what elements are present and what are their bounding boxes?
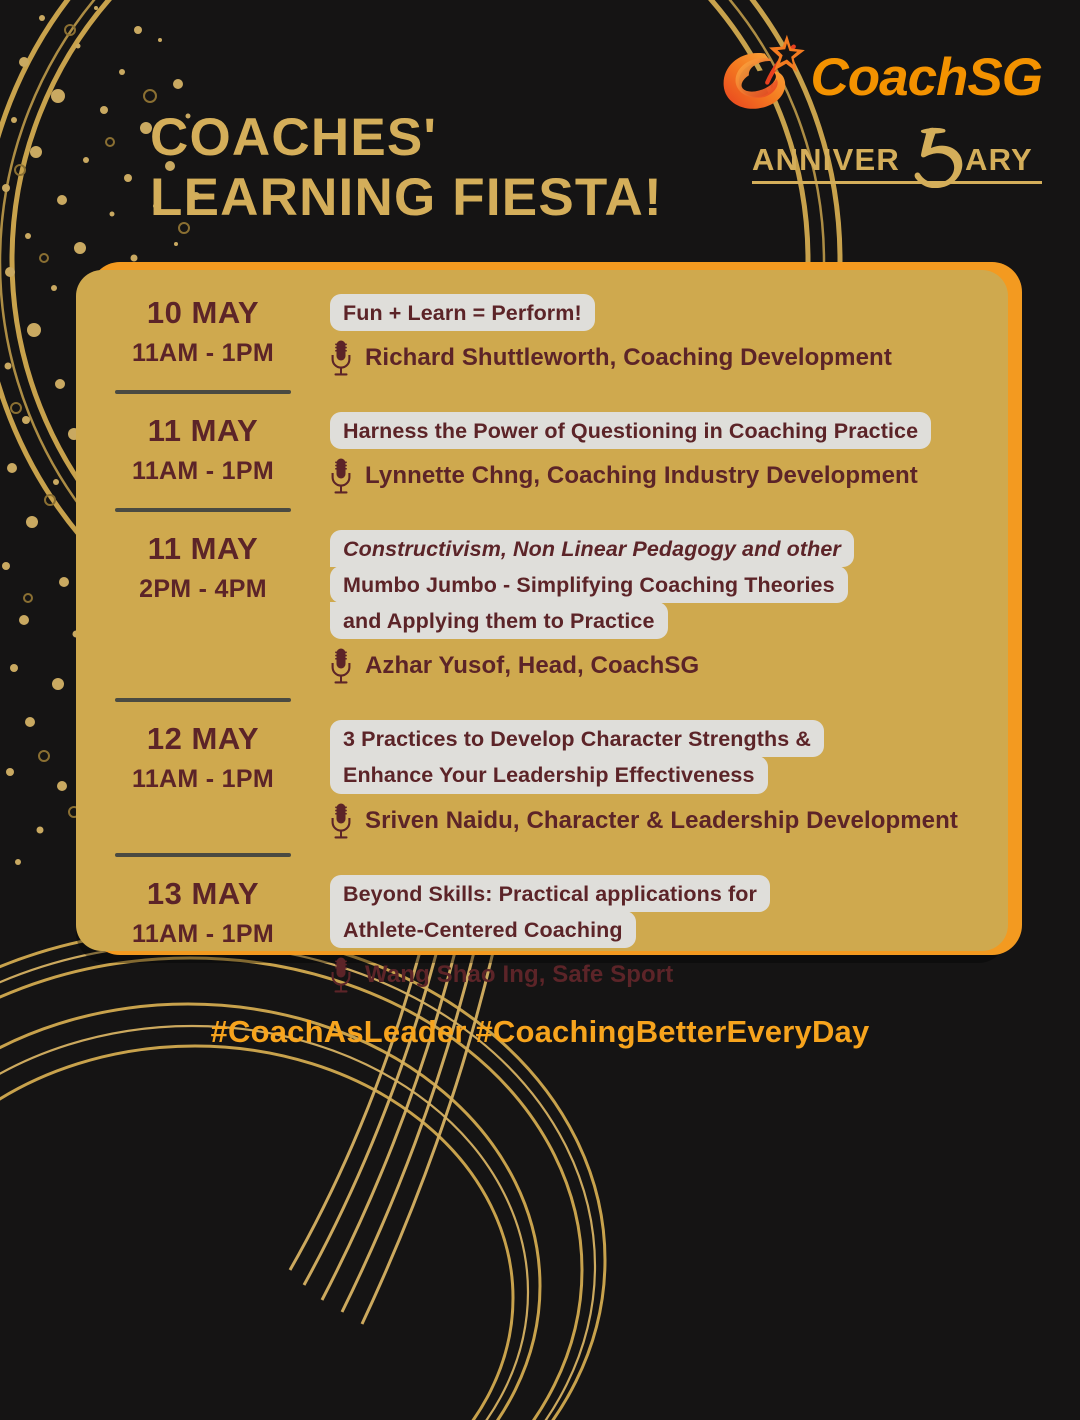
session-speaker: Wang Shao Ing, Safe Sport: [330, 957, 982, 993]
microphone-icon: [330, 340, 352, 376]
session-title-line: Enhance Your Leadership Effectiveness: [330, 756, 768, 793]
session-datetime: 11 MAY2PM - 4PM: [98, 526, 308, 604]
session-title-line: Mumbo Jumbo - Simplifying Coaching Theor…: [330, 566, 848, 603]
session-date: 11 MAY: [98, 532, 308, 566]
session-speaker: Azhar Yusof, Head, CoachSG: [330, 648, 982, 684]
anniversary-prefix: ANNIVER: [752, 142, 900, 177]
session-separator: [98, 390, 308, 394]
session-speaker-name: Sriven Naidu, Character & Leadership Dev…: [365, 807, 958, 835]
session-time: 11AM - 1PM: [98, 765, 308, 794]
session-datetime: 10 MAY11AM - 1PM: [98, 290, 308, 368]
session-separator: [98, 698, 308, 702]
anniversary-five-brush: [915, 128, 963, 188]
hashtags: #CoachAsLeader #CoachingBetterEveryDay: [0, 1014, 1080, 1050]
session-time: 11AM - 1PM: [98, 457, 308, 486]
separator-line: [115, 853, 291, 857]
anniversary-suffix: ARY: [965, 142, 1033, 177]
session-title-line: Fun + Learn = Perform!: [330, 294, 595, 331]
session-title-line: Constructivism, Non Linear Pedagogy and …: [330, 530, 854, 567]
session-speaker: Richard Shuttleworth, Coaching Developme…: [330, 340, 982, 376]
session-title: Beyond Skills: Practical applications fo…: [330, 875, 982, 947]
session-title: Constructivism, Non Linear Pedagogy and …: [330, 530, 982, 638]
session-row: 12 MAY11AM - 1PM3 Practices to Develop C…: [98, 716, 982, 838]
session-separator: [98, 508, 308, 512]
coachsg-swirl-star-icon: [720, 33, 806, 115]
session-row: 13 MAY11AM - 1PMBeyond Skills: Practical…: [98, 871, 982, 993]
session-title: 3 Practices to Develop Character Strengt…: [330, 720, 982, 792]
session-details: 3 Practices to Develop Character Strengt…: [308, 716, 982, 838]
microphone-icon: [330, 957, 352, 993]
separator-line: [115, 508, 291, 512]
session-row: 11 MAY2PM - 4PMConstructivism, Non Linea…: [98, 526, 982, 684]
session-title: Fun + Learn = Perform!: [330, 294, 982, 330]
session-separator: [98, 853, 308, 857]
schedule-card: 10 MAY11AM - 1PMFun + Learn = Perform!Ri…: [76, 270, 1008, 951]
session-date: 12 MAY: [98, 722, 308, 756]
session-details: Constructivism, Non Linear Pedagogy and …: [308, 526, 982, 684]
session-date: 10 MAY: [98, 296, 308, 330]
session-date: 11 MAY: [98, 414, 308, 448]
session-datetime: 13 MAY11AM - 1PM: [98, 871, 308, 949]
microphone-icon: [330, 458, 352, 494]
session-speaker-name: Richard Shuttleworth, Coaching Developme…: [365, 344, 892, 372]
session-title-line: and Applying them to Practice: [330, 602, 668, 639]
session-title: Harness the Power of Questioning in Coac…: [330, 412, 982, 448]
anniversary-lockup: ANNIVER ARY: [732, 126, 1042, 188]
session-row: 10 MAY11AM - 1PMFun + Learn = Perform!Ri…: [98, 290, 982, 376]
session-title-line: 3 Practices to Develop Character Strengt…: [330, 720, 824, 757]
session-title-line: Athlete-Centered Coaching: [330, 911, 636, 948]
session-row: 11 MAY11AM - 1PMHarness the Power of Que…: [98, 408, 982, 494]
session-datetime: 12 MAY11AM - 1PM: [98, 716, 308, 794]
session-title-line: Harness the Power of Questioning in Coac…: [330, 412, 931, 449]
session-speaker-name: Azhar Yusof, Head, CoachSG: [365, 652, 699, 680]
separator-line: [115, 390, 291, 394]
session-details: Fun + Learn = Perform!Richard Shuttlewor…: [308, 290, 982, 376]
session-details: Harness the Power of Questioning in Coac…: [308, 408, 982, 494]
session-speaker: Sriven Naidu, Character & Leadership Dev…: [330, 803, 982, 839]
session-details: Beyond Skills: Practical applications fo…: [308, 871, 982, 993]
microphone-icon: [330, 648, 352, 684]
session-speaker-name: Lynnette Chng, Coaching Industry Develop…: [365, 462, 918, 490]
session-date: 13 MAY: [98, 877, 308, 911]
session-time: 11AM - 1PM: [98, 339, 308, 368]
session-time: 11AM - 1PM: [98, 920, 308, 949]
coachsg-wordmark: CoachSG: [810, 51, 1042, 104]
separator-line: [115, 698, 291, 702]
page-title: COACHES' LEARNING FIESTA!: [150, 108, 663, 228]
session-title-line: Beyond Skills: Practical applications fo…: [330, 875, 770, 912]
session-time: 2PM - 4PM: [98, 575, 308, 604]
microphone-icon: [330, 803, 352, 839]
session-speaker-name: Wang Shao Ing, Safe Sport: [365, 961, 673, 989]
session-speaker: Lynnette Chng, Coaching Industry Develop…: [330, 458, 982, 494]
coachsg-logo: CoachSG ANNIVER ARY: [732, 34, 1042, 188]
anniversary-underline: [752, 181, 1042, 184]
session-datetime: 11 MAY11AM - 1PM: [98, 408, 308, 486]
